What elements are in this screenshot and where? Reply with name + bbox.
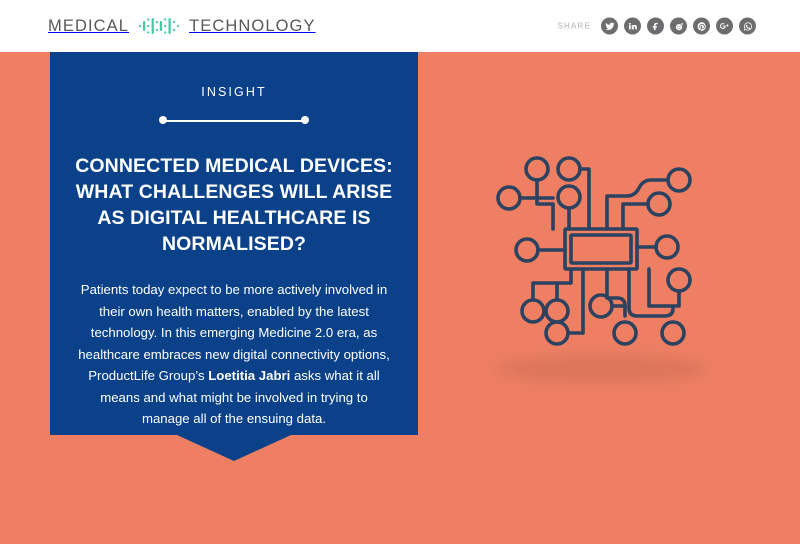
dotted-pulse-logo-icon xyxy=(138,15,180,37)
whatsapp-icon[interactable] xyxy=(739,18,756,35)
googleplus-icon[interactable] xyxy=(716,18,733,35)
insight-kicker: INSIGHT xyxy=(50,85,418,99)
divider-dot-right xyxy=(301,116,309,124)
site-header: MEDICAL xyxy=(0,0,800,52)
standfirst: Patients today expect to be more activel… xyxy=(78,279,390,430)
brand-word-technology: TECHNOLOGY xyxy=(189,17,316,36)
facebook-icon[interactable] xyxy=(647,18,664,35)
twitter-icon[interactable] xyxy=(601,18,618,35)
site-logo[interactable]: MEDICAL xyxy=(48,15,316,37)
share-label: SHARE xyxy=(557,22,591,31)
standfirst-author-name: Loetitia Jabri xyxy=(208,368,290,383)
linkedin-icon[interactable] xyxy=(624,18,641,35)
divider-bar xyxy=(163,120,305,122)
pinterest-icon[interactable] xyxy=(693,18,710,35)
share-bar: SHARE xyxy=(557,18,756,35)
reddit-icon[interactable] xyxy=(670,18,687,35)
insight-card: INSIGHT CONNECTED MEDICAL DEVICES: WHAT … xyxy=(50,52,418,435)
page-title: CONNECTED MEDICAL DEVICES: WHAT CHALLENG… xyxy=(68,153,400,257)
kicker-divider xyxy=(159,116,309,125)
brand-word-medical: MEDICAL xyxy=(48,17,129,36)
circuit-chip-illustration xyxy=(489,140,713,364)
